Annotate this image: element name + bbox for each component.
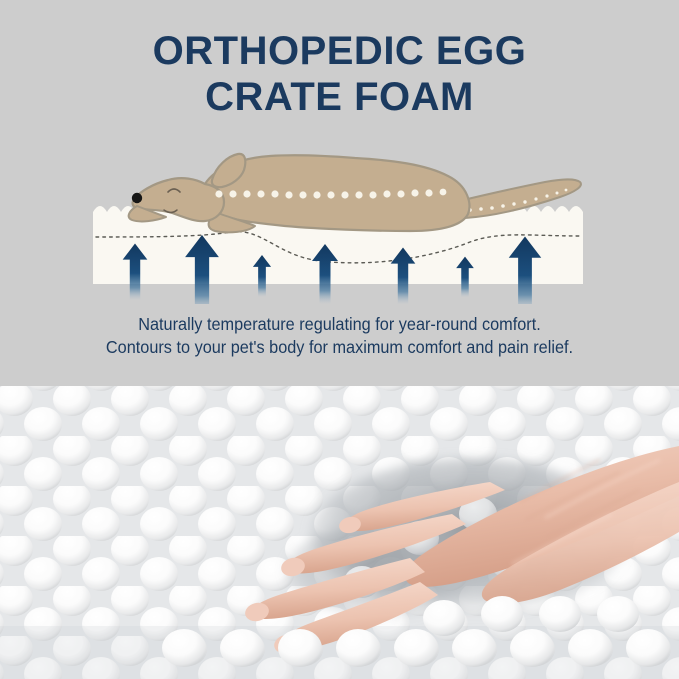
foam-support-illustration — [0, 124, 679, 304]
caption-line-2: Contours to your pet's body for maximum … — [24, 336, 655, 359]
title-line-1: ORTHOPEDIC EGG — [0, 28, 679, 74]
caption-line-1: Naturally temperature regulating for yea… — [24, 313, 655, 336]
foam-closeup-photo — [0, 386, 679, 679]
top-info-panel: ORTHOPEDIC EGG CRATE FOAM — [0, 0, 679, 386]
title-line-2: CRATE FOAM — [0, 74, 679, 120]
dog-nose — [132, 193, 142, 203]
feature-captions: Naturally temperature regulating for yea… — [0, 313, 679, 359]
product-feature-graphic: ORTHOPEDIC EGG CRATE FOAM — [0, 0, 679, 679]
page-title: ORTHOPEDIC EGG CRATE FOAM — [0, 28, 679, 120]
